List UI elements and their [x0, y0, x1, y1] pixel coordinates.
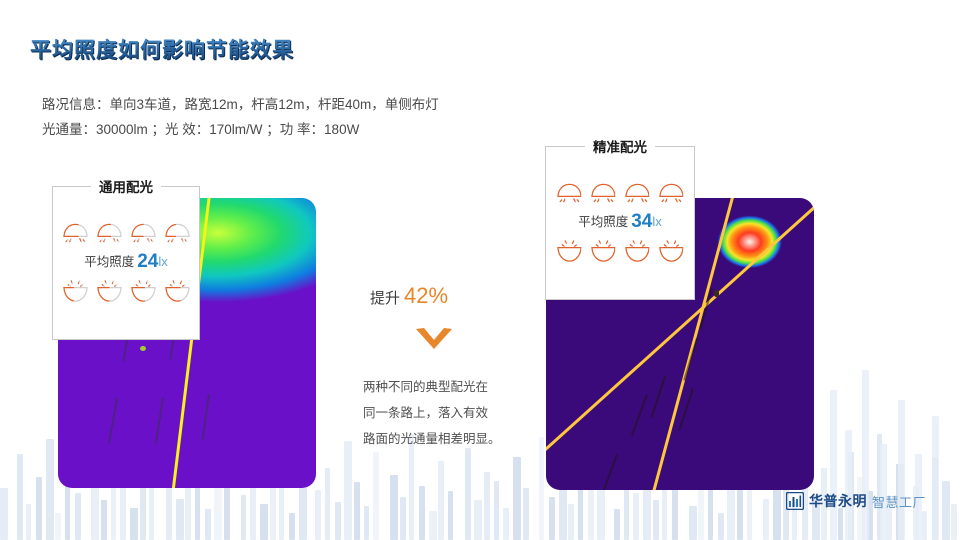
decor-bar [111, 481, 116, 540]
decor-bar [922, 511, 927, 540]
decor-bar [737, 490, 743, 540]
card-precision-distribution: 精准配光 平均照度34lx [545, 146, 695, 300]
decor-bar [633, 493, 639, 540]
decor-bar [568, 504, 574, 540]
avg-value-right: 34 [631, 211, 652, 232]
decor-bar [448, 491, 453, 540]
decor-bar [494, 481, 499, 540]
decor-bar [390, 475, 398, 540]
pole-marker [140, 346, 146, 351]
decor-bar [101, 500, 107, 540]
logo-company-name: 华普永明 [809, 491, 867, 511]
decor-bar [400, 497, 406, 540]
decor-bar [597, 484, 605, 540]
decor-bar [335, 502, 341, 540]
avg-unit-left: lx [158, 254, 167, 269]
avg-illuminance-right: 平均照度34lx [546, 211, 694, 233]
lane-marking [155, 398, 164, 444]
decor-bar [0, 488, 8, 540]
road-parameters: 路况信息：单向3车道，路宽12m，杆高12m，杆距40m，单侧布灯 光通量：30… [42, 92, 439, 142]
decor-bar [429, 511, 437, 540]
decor-bar [149, 488, 154, 540]
decor-bar [205, 509, 211, 540]
lamp-row-top-left [53, 221, 199, 247]
decor-bar [549, 497, 555, 540]
decor-bar [513, 457, 521, 540]
decor-bar [373, 452, 379, 540]
decor-bar [344, 441, 352, 540]
decor-bar [484, 472, 490, 540]
pole-marker [714, 290, 719, 297]
avg-unit-right: lx [652, 214, 661, 229]
decor-bar [474, 500, 482, 540]
decor-bar [718, 513, 724, 540]
decor-bar [364, 506, 369, 540]
decor-bar [325, 468, 330, 540]
decor-bar [830, 390, 837, 540]
decor-bar [176, 499, 184, 540]
lane-marking [202, 394, 210, 440]
decor-bar [932, 416, 939, 540]
lamp-row-top-right [546, 181, 694, 207]
lane-marking [602, 454, 617, 490]
decor-bar [46, 439, 54, 540]
decor-bar [289, 513, 295, 540]
decor-bar [951, 504, 957, 540]
decor-bar [419, 486, 425, 540]
decor-bar [932, 457, 938, 540]
decor-bar [763, 499, 769, 540]
decor-bar [438, 461, 444, 540]
explanatory-note: 两种不同的典型配光在 同一条路上，落入有效 路面的光通量相差明显。 [363, 374, 543, 452]
decor-bar [195, 484, 200, 540]
uplift-text: 提升42% [370, 283, 448, 309]
note-line-2: 同一条路上，落入有效 [363, 400, 543, 426]
note-line-3: 路面的光通量相差明显。 [363, 426, 543, 452]
page-title: 平均照度如何影响节能效果 [30, 34, 294, 64]
uplift-value: 42% [404, 283, 448, 308]
decor-bar [315, 490, 321, 540]
decor-bar [862, 370, 869, 540]
decor-bar [55, 513, 61, 540]
card-title-precision: 精准配光 [585, 136, 655, 156]
decor-bar [26, 504, 31, 540]
avg-label-right: 平均照度 [578, 215, 628, 229]
decor-bar [260, 504, 268, 540]
decor-bar [523, 488, 529, 540]
decor-bar [877, 434, 882, 540]
avg-value-left: 24 [137, 251, 158, 272]
decor-bar [465, 448, 471, 540]
card-general-distribution: 通用配光 平均照度24lx [52, 186, 200, 340]
slide-canvas: 平均照度如何影响节能效果 平均照度如何影响节能效果 路况信息：单向3车道，路宽1… [0, 0, 960, 540]
avg-illuminance-left: 平均照度24lx [53, 251, 199, 273]
decor-bar [942, 481, 950, 540]
lane-marking [650, 376, 665, 418]
decor-bar [614, 509, 620, 540]
avg-label-left: 平均照度 [84, 255, 134, 269]
decor-bar [17, 454, 23, 540]
decor-bar [36, 477, 42, 540]
logo-sub-name: 智慧工厂 [872, 492, 926, 511]
card-title-general: 通用配光 [91, 176, 161, 196]
decor-bar [898, 400, 905, 540]
huapu-logo-icon [786, 492, 804, 510]
decor-bar [845, 430, 852, 540]
note-line-1: 两种不同的典型配光在 [363, 374, 543, 400]
decor-bar [241, 495, 246, 540]
road-parameters-line-1: 路况信息：单向3车道，路宽12m，杆高12m，杆距40m，单侧布灯 [42, 92, 439, 117]
decor-bar [75, 493, 81, 540]
brand-logo: 华普永明 智慧工厂 [786, 491, 926, 511]
decor-bar [503, 508, 509, 540]
decor-bar [653, 500, 659, 540]
decor-bar [130, 508, 138, 540]
lane-marking [631, 394, 648, 436]
decor-bar [838, 508, 843, 540]
decor-bar [539, 437, 544, 540]
decor-bar [708, 486, 713, 540]
road-parameters-line-2: 光通量：30000lm ；光 效：170lm/W ；功 率：180W [42, 117, 439, 142]
lamp-row-bottom-left [53, 277, 199, 303]
lamp-row-bottom-right [546, 237, 694, 263]
decor-bar [354, 482, 360, 540]
chevron-down-icon [414, 325, 454, 358]
lane-marking [108, 398, 117, 444]
uplift-label: 提升 [370, 290, 400, 307]
decor-bar [689, 506, 697, 540]
